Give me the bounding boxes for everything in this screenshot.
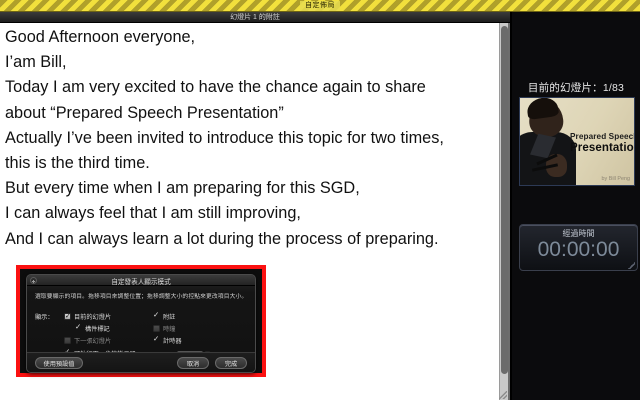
option-notes[interactable]: 附註 [153,312,175,321]
option-build-markers[interactable]: 構件標記 [75,324,110,333]
custom-layout-stripe-bar[interactable]: 自定佈局 [0,0,640,12]
dialog-footer: 使用預設值 取消 完成 [27,352,255,372]
notes-line: Today I am very excited to have the chan… [5,75,499,100]
option-label: 下一張幻燈片 [74,336,111,345]
checkbox-icon[interactable] [153,313,160,320]
cancel-button[interactable]: 取消 [177,357,209,369]
notes-window-titlebar[interactable]: 幻燈片 1 的附註 [0,12,510,23]
done-button[interactable]: 完成 [215,357,247,369]
customize-presenter-display-dialog: 自定發表人顯示模式 選取要顯示的項目。拖移項目來調整位置；拖移調整大小的控點來更… [26,274,256,373]
presenter-display-screen: 自定佈局 幻燈片 1 的附註 Good Afternoon everyone, … [0,0,640,400]
checkbox-icon[interactable] [64,313,71,320]
notes-line: But every time when I am preparing for t… [5,176,499,201]
notes-scrollbar-thumb[interactable] [501,26,508,374]
option-label: 時鐘 [163,324,175,333]
checkbox-icon[interactable] [75,325,82,332]
option-label: 計時器 [163,336,182,345]
checkbox-icon[interactable] [153,337,160,344]
checkbox-icon[interactable] [64,337,71,344]
notes-line: And I can always learn a lot during the … [5,227,499,252]
presenter-sidebar: 目前的幻燈片：1/83 Prepared Speech Presentation… [512,12,640,400]
thumbnail-title-line1: Prepared Speech [570,132,634,141]
timer-resize-handle[interactable] [628,262,635,269]
notes-line: I’am Bill, [5,50,499,75]
notes-line: Good Afternoon everyone, [5,25,499,50]
notes-line: Actually I’ve been invited to introduce … [5,126,499,151]
option-next-slide[interactable]: 下一張幻燈片 [64,336,111,345]
option-clock[interactable]: 時鐘 [153,324,175,333]
speaker-silhouette-icon [519,97,578,185]
show-options-label: 顯示： [35,312,54,321]
option-label: 目前的幻燈片 [74,312,111,321]
checkbox-icon[interactable] [153,325,160,332]
dialog-description: 選取要顯示的項目。拖移項目來調整位置；拖移調整大小的控點來更改項目大小。 [35,291,249,300]
notes-window-title: 幻燈片 1 的附註 [230,12,280,22]
dialog-title: 自定發表人顯示模式 [27,276,255,286]
dialog-titlebar[interactable]: 自定發表人顯示模式 [27,275,255,286]
dialog-highlight-outline: 自定發表人顯示模式 選取要顯示的項目。拖移項目來調整位置；拖移調整大小的控點來更… [16,265,266,377]
notes-line: this is the third time. [5,151,499,176]
use-defaults-button[interactable]: 使用預設值 [35,357,83,369]
notes-text-body: Good Afternoon everyone, I’am Bill, Toda… [5,25,499,252]
option-current-slide[interactable]: 目前的幻燈片 [64,312,111,321]
option-label: 構件標記 [85,324,110,333]
thumbnail-title-line2: Presentation [570,142,635,154]
option-timer[interactable]: 計時器 [153,336,182,345]
timer-value: 00:00:00 [520,238,637,262]
thumbnail-credit: by Bill Peng [602,176,630,182]
notes-scrollbar[interactable] [499,23,508,400]
notes-resize-handle[interactable] [499,391,507,399]
current-slide-counter: 目前的幻燈片：1/83 [512,80,640,95]
notes-line: about “Prepared Speech Presentation” [5,101,499,126]
option-label: 附註 [163,312,175,321]
current-slide-thumbnail[interactable]: Prepared Speech Presentation by Bill Pen… [519,97,635,186]
custom-layout-label: 自定佈局 [300,1,340,11]
notes-line: I can always feel that I am still improv… [5,201,499,226]
elapsed-timer-widget[interactable]: 經過時間 00:00:00 [519,224,638,271]
